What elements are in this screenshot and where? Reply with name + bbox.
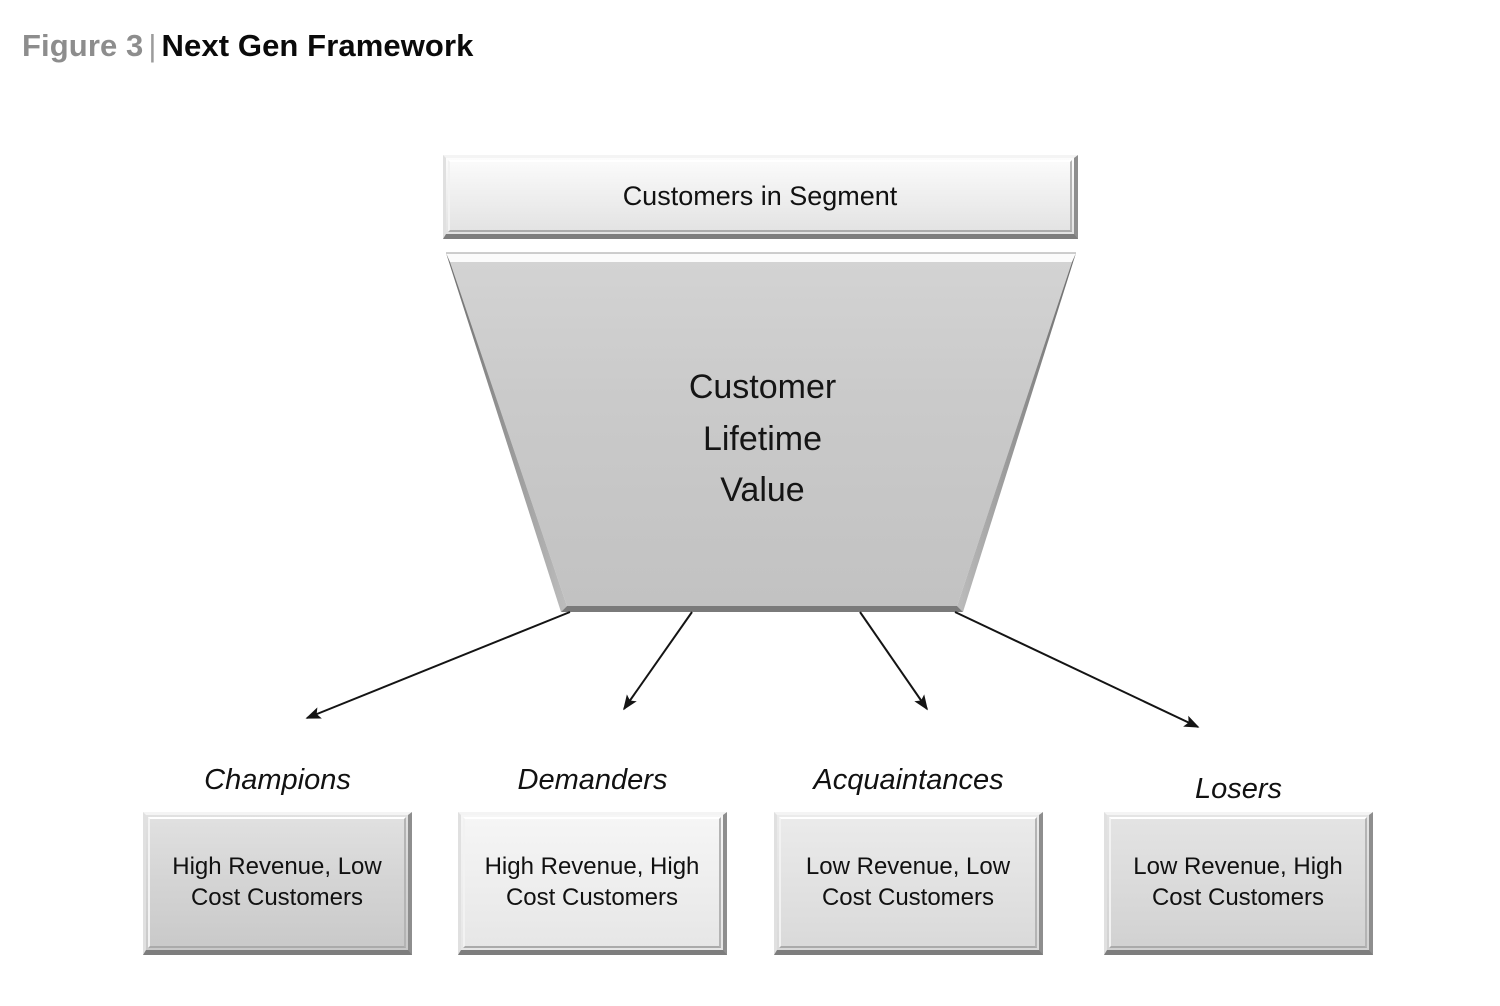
segment-caption-champions: Champions — [143, 764, 412, 797]
segment-description-demanders: High Revenue, High Cost Customers — [461, 852, 723, 913]
arrow-to-losers — [955, 612, 1198, 727]
arrow-to-demanders — [624, 612, 692, 709]
segment-box-acquaintances[interactable]: Low Revenue, Low Cost Customers — [774, 812, 1043, 955]
arrow-to-champions — [307, 612, 570, 718]
segment-description-losers: Low Revenue, High Cost Customers — [1107, 852, 1369, 913]
segment-caption-acquaintances: Acquaintances — [774, 764, 1043, 797]
customers-in-segment-label: Customers in Segment — [613, 179, 908, 214]
segment-description-champions: High Revenue, Low Cost Customers — [146, 852, 408, 913]
arrow-to-acquaintances — [860, 612, 927, 709]
segment-box-champions[interactable]: High Revenue, Low Cost Customers — [143, 812, 412, 955]
segment-caption-losers: Losers — [1104, 773, 1373, 806]
segment-description-acquaintances: Low Revenue, Low Cost Customers — [777, 852, 1039, 913]
funnel-top-highlight — [446, 253, 1076, 262]
segment-box-losers[interactable]: Low Revenue, High Cost Customers — [1104, 812, 1373, 955]
customer-lifetime-value-label: Customer Lifetime Value — [565, 362, 960, 517]
funnel-bottom-bevel — [561, 606, 963, 612]
segment-box-demanders[interactable]: High Revenue, High Cost Customers — [458, 812, 727, 955]
connector-arrows — [307, 612, 1198, 727]
segment-caption-demanders: Demanders — [458, 764, 727, 797]
customers-in-segment-box[interactable]: Customers in Segment — [443, 155, 1078, 239]
